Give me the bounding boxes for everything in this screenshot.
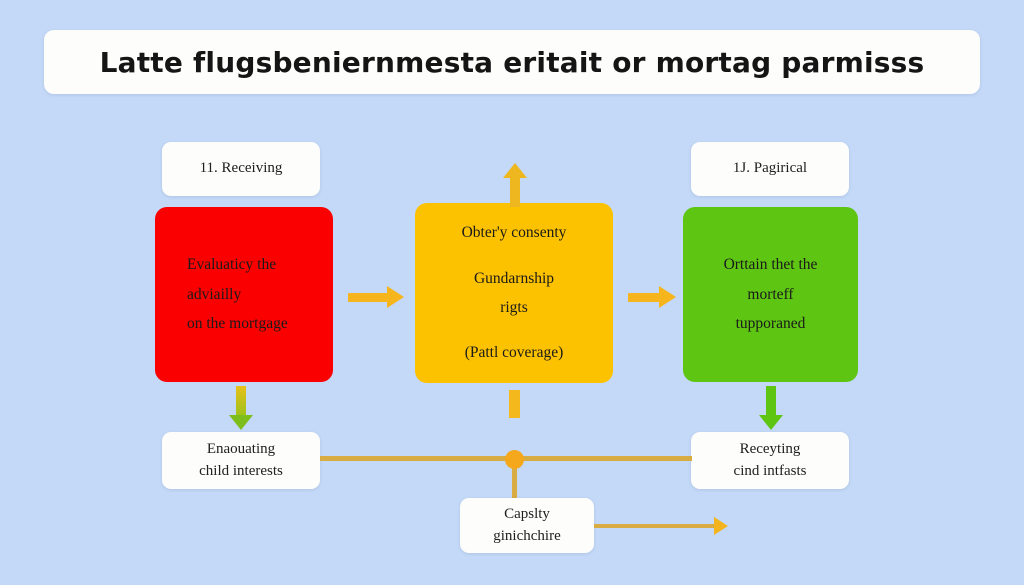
label-pagirical-text: 1J. Pagirical — [733, 158, 807, 180]
arrow-right-outflow-icon — [714, 517, 728, 535]
cind-intfasts-line-2: cind intfasts — [734, 461, 807, 483]
arrow-down-left-icon — [229, 386, 253, 430]
label-receiving-text: 11. Receiving — [200, 158, 283, 180]
page-title: Latte flugsbeniernmesta eritait or morta… — [100, 46, 925, 79]
label-card-child-interests: Enaouating child interests — [162, 432, 320, 489]
capslty-line-2: ginichchire — [493, 526, 560, 548]
yellow-line-4: (Pattl coverage) — [465, 338, 564, 367]
connector-stub-yellow — [509, 390, 520, 418]
green-line-3: tupporaned — [736, 309, 806, 338]
arrow-head — [759, 415, 783, 430]
arrow-shaft — [236, 386, 246, 416]
arrow-head — [229, 415, 253, 430]
junction-dot-icon — [505, 450, 524, 469]
arrow-down-right-icon — [759, 386, 783, 430]
arrow-right-yellow-to-green-icon — [628, 286, 676, 308]
label-card-pagirical: 1J. Pagirical — [691, 142, 849, 196]
yellow-line-2: Gundarnship — [474, 264, 554, 293]
diagram-canvas: Latte flugsbeniernmesta eritait or morta… — [0, 0, 1024, 585]
arrow-right-red-to-yellow-icon — [348, 286, 404, 308]
yellow-line-1: Obter'y consenty — [462, 218, 567, 247]
process-box-green: Orttain thet the morteff tupporaned — [683, 207, 858, 382]
red-line-1: Evaluaticy the — [187, 250, 319, 279]
arrow-shaft — [628, 293, 660, 302]
title-banner: Latte flugsbeniernmesta eritait or morta… — [44, 30, 980, 94]
red-line-3: on the mortgage — [187, 309, 319, 338]
cind-intfasts-line-1: Receyting — [740, 439, 801, 461]
green-line-1: Orttain thet the — [724, 250, 818, 279]
label-card-capslty: Capslty ginichchire — [460, 498, 594, 553]
arrow-head — [387, 286, 404, 308]
process-box-red-lines: Evaluaticy the adviailly on the mortgage — [169, 250, 319, 338]
arrow-up-yellow-icon — [503, 163, 527, 207]
process-box-yellow: Obter'y consenty Gundarnship rigts (Patt… — [415, 203, 613, 383]
arrow-shaft — [766, 386, 776, 416]
connector-outflow-line — [594, 524, 716, 528]
label-card-cind-intfasts: Receyting cind intfasts — [691, 432, 849, 489]
arrow-head — [659, 286, 676, 308]
green-line-2: morteff — [747, 280, 793, 309]
yellow-line-3: rigts — [500, 293, 528, 322]
red-line-2: adviailly — [187, 280, 319, 309]
label-card-receiving: 11. Receiving — [162, 142, 320, 196]
capslty-line-1: Capslty — [504, 504, 550, 526]
process-box-red: Evaluaticy the adviailly on the mortgage — [155, 207, 333, 382]
arrow-shaft — [510, 176, 520, 207]
child-interests-line-1: Enaouating — [207, 439, 275, 461]
child-interests-line-2: child interests — [199, 461, 283, 483]
arrow-shaft — [348, 293, 388, 302]
